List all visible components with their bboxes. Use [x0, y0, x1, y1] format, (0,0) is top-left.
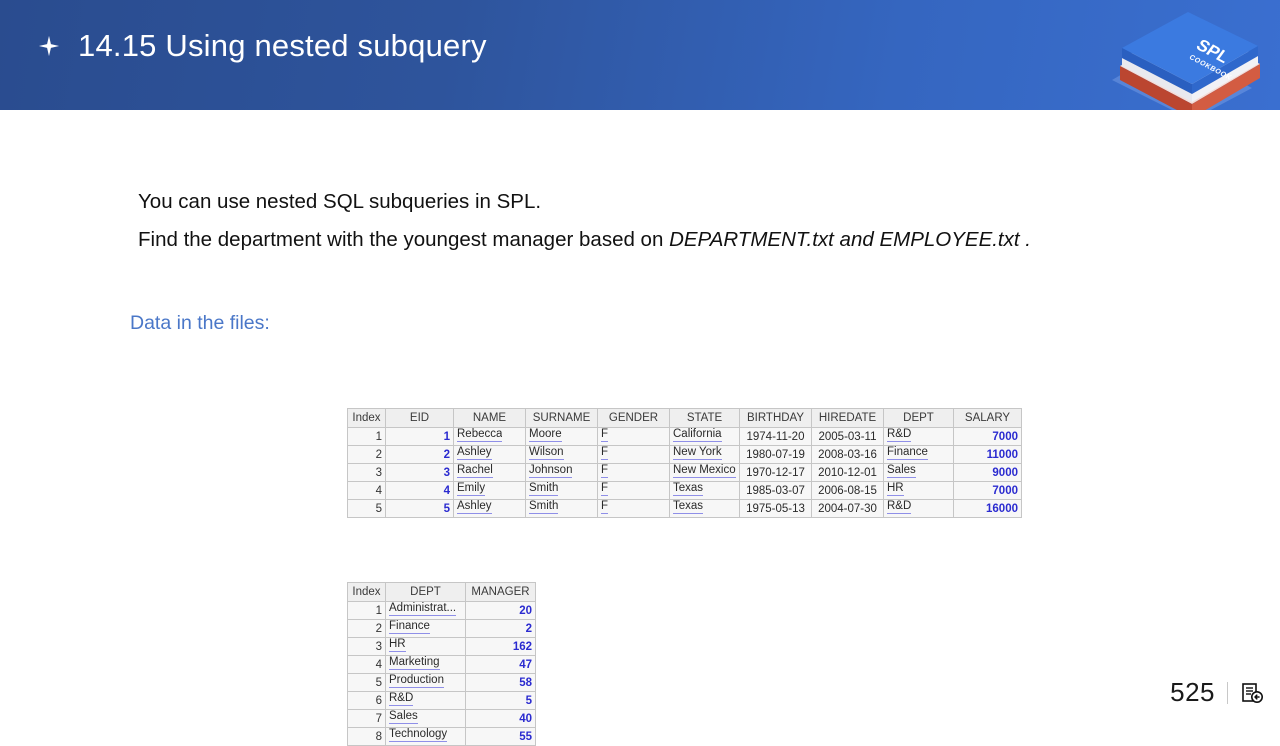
cell-manager: 55 [466, 728, 536, 746]
cell-name: Emily [454, 482, 526, 500]
cell-surname-text: Smith [529, 500, 558, 514]
cell-dept-text: R&D [887, 500, 911, 514]
data-in-files-label: Data in the files: [130, 312, 270, 335]
cell-name: Rebecca [454, 428, 526, 446]
cell-index: 2 [348, 620, 386, 638]
cell-salary: 9000 [954, 464, 1022, 482]
cell-index: 8 [348, 728, 386, 746]
cell-dept: Sales [884, 464, 954, 482]
cell-state: Texas [670, 482, 740, 500]
cell-dept-text: Administrat... [389, 602, 456, 616]
cell-surname-text: Wilson [529, 446, 564, 460]
cell-index: 6 [348, 692, 386, 710]
cell-dept-text: Marketing [389, 656, 440, 670]
cell-salary: 7000 [954, 428, 1022, 446]
column-header-dept: DEPT [884, 409, 954, 428]
table-header-row: Index DEPT MANAGER [348, 583, 536, 602]
page-number: 525 [1170, 677, 1215, 708]
cell-state-text: California [673, 428, 722, 442]
table-row: 6 R&D 5 [348, 692, 536, 710]
cell-state: New Mexico [670, 464, 740, 482]
cell-surname-text: Johnson [529, 464, 572, 478]
column-header-state: STATE [670, 409, 740, 428]
cell-state: New York [670, 446, 740, 464]
paragraph-2-filenames: DEPARTMENT.txt and EMPLOYEE.txt . [669, 228, 1031, 251]
cell-eid: 3 [386, 464, 454, 482]
cell-surname-text: Smith [529, 482, 558, 496]
cell-name-text: Ashley [457, 500, 492, 514]
cell-surname: Johnson [526, 464, 598, 482]
cell-gender: F [598, 500, 670, 518]
cell-eid: 4 [386, 482, 454, 500]
cell-birthday: 1975-05-13 [740, 500, 812, 518]
sparkle-icon [38, 35, 60, 57]
cell-index: 3 [348, 638, 386, 656]
cell-gender: F [598, 428, 670, 446]
cell-dept: Production [386, 674, 466, 692]
cell-gender: F [598, 482, 670, 500]
spl-cookbook-logo: SPL COOKBOOK [1092, 2, 1272, 110]
cell-hiredate: 2008-03-16 [812, 446, 884, 464]
cell-state-text: Texas [673, 500, 703, 514]
cell-surname: Wilson [526, 446, 598, 464]
cell-dept: Sales [386, 710, 466, 728]
cell-dept-text: Finance [887, 446, 928, 460]
table-row: 3 3 Rachel Johnson F New Mexico 1970-12-… [348, 464, 1022, 482]
table-row: 7 Sales 40 [348, 710, 536, 728]
cell-state-text: New Mexico [673, 464, 736, 478]
cell-dept: R&D [884, 428, 954, 446]
cell-gender-text: F [601, 482, 608, 496]
column-header-eid: EID [386, 409, 454, 428]
cell-dept-text: R&D [389, 692, 413, 706]
cell-dept-text: Sales [389, 710, 418, 724]
cell-surname-text: Moore [529, 428, 562, 442]
department-txt-grid: Index DEPT MANAGER 1 Administrat... 20 2… [347, 582, 536, 746]
cell-index: 5 [348, 674, 386, 692]
cell-manager: 47 [466, 656, 536, 674]
cell-dept: Finance [386, 620, 466, 638]
cell-gender-text: F [601, 428, 608, 442]
cell-index: 1 [348, 602, 386, 620]
cell-index: 2 [348, 446, 386, 464]
cell-index: 3 [348, 464, 386, 482]
column-header-index: Index [348, 409, 386, 428]
cell-birthday: 1980-07-19 [740, 446, 812, 464]
page-title: 14.15 Using nested subquery [78, 30, 487, 61]
cell-birthday: 1985-03-07 [740, 482, 812, 500]
cell-dept-text: R&D [887, 428, 911, 442]
cell-hiredate: 2005-03-11 [812, 428, 884, 446]
cell-surname: Moore [526, 428, 598, 446]
cell-salary: 11000 [954, 446, 1022, 464]
column-header-birthday: BIRTHDAY [740, 409, 812, 428]
cell-name-text: Rachel [457, 464, 493, 478]
cell-manager: 162 [466, 638, 536, 656]
cell-name: Ashley [454, 500, 526, 518]
table-row: 4 4 Emily Smith F Texas 1985-03-07 2006-… [348, 482, 1022, 500]
table-row: 5 5 Ashley Smith F Texas 1975-05-13 2004… [348, 500, 1022, 518]
cell-manager: 5 [466, 692, 536, 710]
cell-hiredate: 2006-08-15 [812, 482, 884, 500]
paragraph-1: You can use nested SQL subqueries in SPL… [138, 190, 541, 215]
cell-dept-text: Finance [389, 620, 430, 634]
cell-gender-text: F [601, 446, 608, 460]
cell-name: Rachel [454, 464, 526, 482]
column-header-gender: GENDER [598, 409, 670, 428]
cell-state: Texas [670, 500, 740, 518]
cell-state-text: New York [673, 446, 722, 460]
table-row: 3 HR 162 [348, 638, 536, 656]
cell-surname: Smith [526, 482, 598, 500]
header-title-row: 14.15 Using nested subquery [38, 30, 487, 61]
table-row: 1 Administrat... 20 [348, 602, 536, 620]
cell-dept: Marketing [386, 656, 466, 674]
cell-index: 4 [348, 656, 386, 674]
cell-eid: 1 [386, 428, 454, 446]
employee-txt-grid: Index EID NAME SURNAME GENDER STATE BIRT… [347, 408, 1022, 518]
column-header-index: Index [348, 583, 386, 602]
cell-index: 1 [348, 428, 386, 446]
cell-index: 7 [348, 710, 386, 728]
cell-state: California [670, 428, 740, 446]
cell-dept-text: Sales [887, 464, 916, 478]
column-header-surname: SURNAME [526, 409, 598, 428]
cell-gender-text: F [601, 464, 608, 478]
paragraph-2-prefix: Find the department with the youngest ma… [138, 228, 669, 251]
slide-footer: 525 [1170, 677, 1264, 708]
paragraph-2: Find the department with the youngest ma… [138, 228, 1031, 253]
cell-index: 4 [348, 482, 386, 500]
table-row: 4 Marketing 47 [348, 656, 536, 674]
column-header-name: NAME [454, 409, 526, 428]
cell-hiredate: 2004-07-30 [812, 500, 884, 518]
table-row: 2 2 Ashley Wilson F New York 1980-07-19 … [348, 446, 1022, 464]
cell-salary: 16000 [954, 500, 1022, 518]
cell-dept: HR [884, 482, 954, 500]
column-header-manager: MANAGER [466, 583, 536, 602]
cell-gender: F [598, 446, 670, 464]
cell-dept-text: HR [887, 482, 904, 496]
cell-gender-text: F [601, 500, 608, 514]
footer-divider [1227, 682, 1228, 704]
document-back-icon[interactable] [1240, 681, 1264, 705]
cell-name-text: Ashley [457, 446, 492, 460]
cell-birthday: 1970-12-17 [740, 464, 812, 482]
cell-dept-text: Technology [389, 728, 447, 742]
cell-dept-text: Production [389, 674, 444, 688]
column-header-salary: SALARY [954, 409, 1022, 428]
cell-name-text: Emily [457, 482, 485, 496]
column-header-dept: DEPT [386, 583, 466, 602]
cell-hiredate: 2010-12-01 [812, 464, 884, 482]
cell-dept: HR [386, 638, 466, 656]
cell-state-text: Texas [673, 482, 703, 496]
column-header-hiredate: HIREDATE [812, 409, 884, 428]
cell-salary: 7000 [954, 482, 1022, 500]
cell-gender: F [598, 464, 670, 482]
table-row: 2 Finance 2 [348, 620, 536, 638]
cell-manager: 40 [466, 710, 536, 728]
cell-manager: 20 [466, 602, 536, 620]
cell-birthday: 1974-11-20 [740, 428, 812, 446]
cell-dept: Administrat... [386, 602, 466, 620]
cell-manager: 2 [466, 620, 536, 638]
table-row: 5 Production 58 [348, 674, 536, 692]
cell-dept: Technology [386, 728, 466, 746]
cell-name-text: Rebecca [457, 428, 502, 442]
table-row: 1 1 Rebecca Moore F California 1974-11-2… [348, 428, 1022, 446]
cell-dept: R&D [884, 500, 954, 518]
cell-surname: Smith [526, 500, 598, 518]
cell-dept: Finance [884, 446, 954, 464]
slide-body: You can use nested SQL subqueries in SPL… [0, 110, 1280, 720]
cell-eid: 5 [386, 500, 454, 518]
cell-dept-text: HR [389, 638, 406, 652]
cell-name: Ashley [454, 446, 526, 464]
slide-header: 14.15 Using nested subquery SPL COOKBOOK [0, 0, 1280, 110]
cell-manager: 58 [466, 674, 536, 692]
cell-dept: R&D [386, 692, 466, 710]
table-header-row: Index EID NAME SURNAME GENDER STATE BIRT… [348, 409, 1022, 428]
cell-index: 5 [348, 500, 386, 518]
cell-eid: 2 [386, 446, 454, 464]
table-row: 8 Technology 55 [348, 728, 536, 746]
